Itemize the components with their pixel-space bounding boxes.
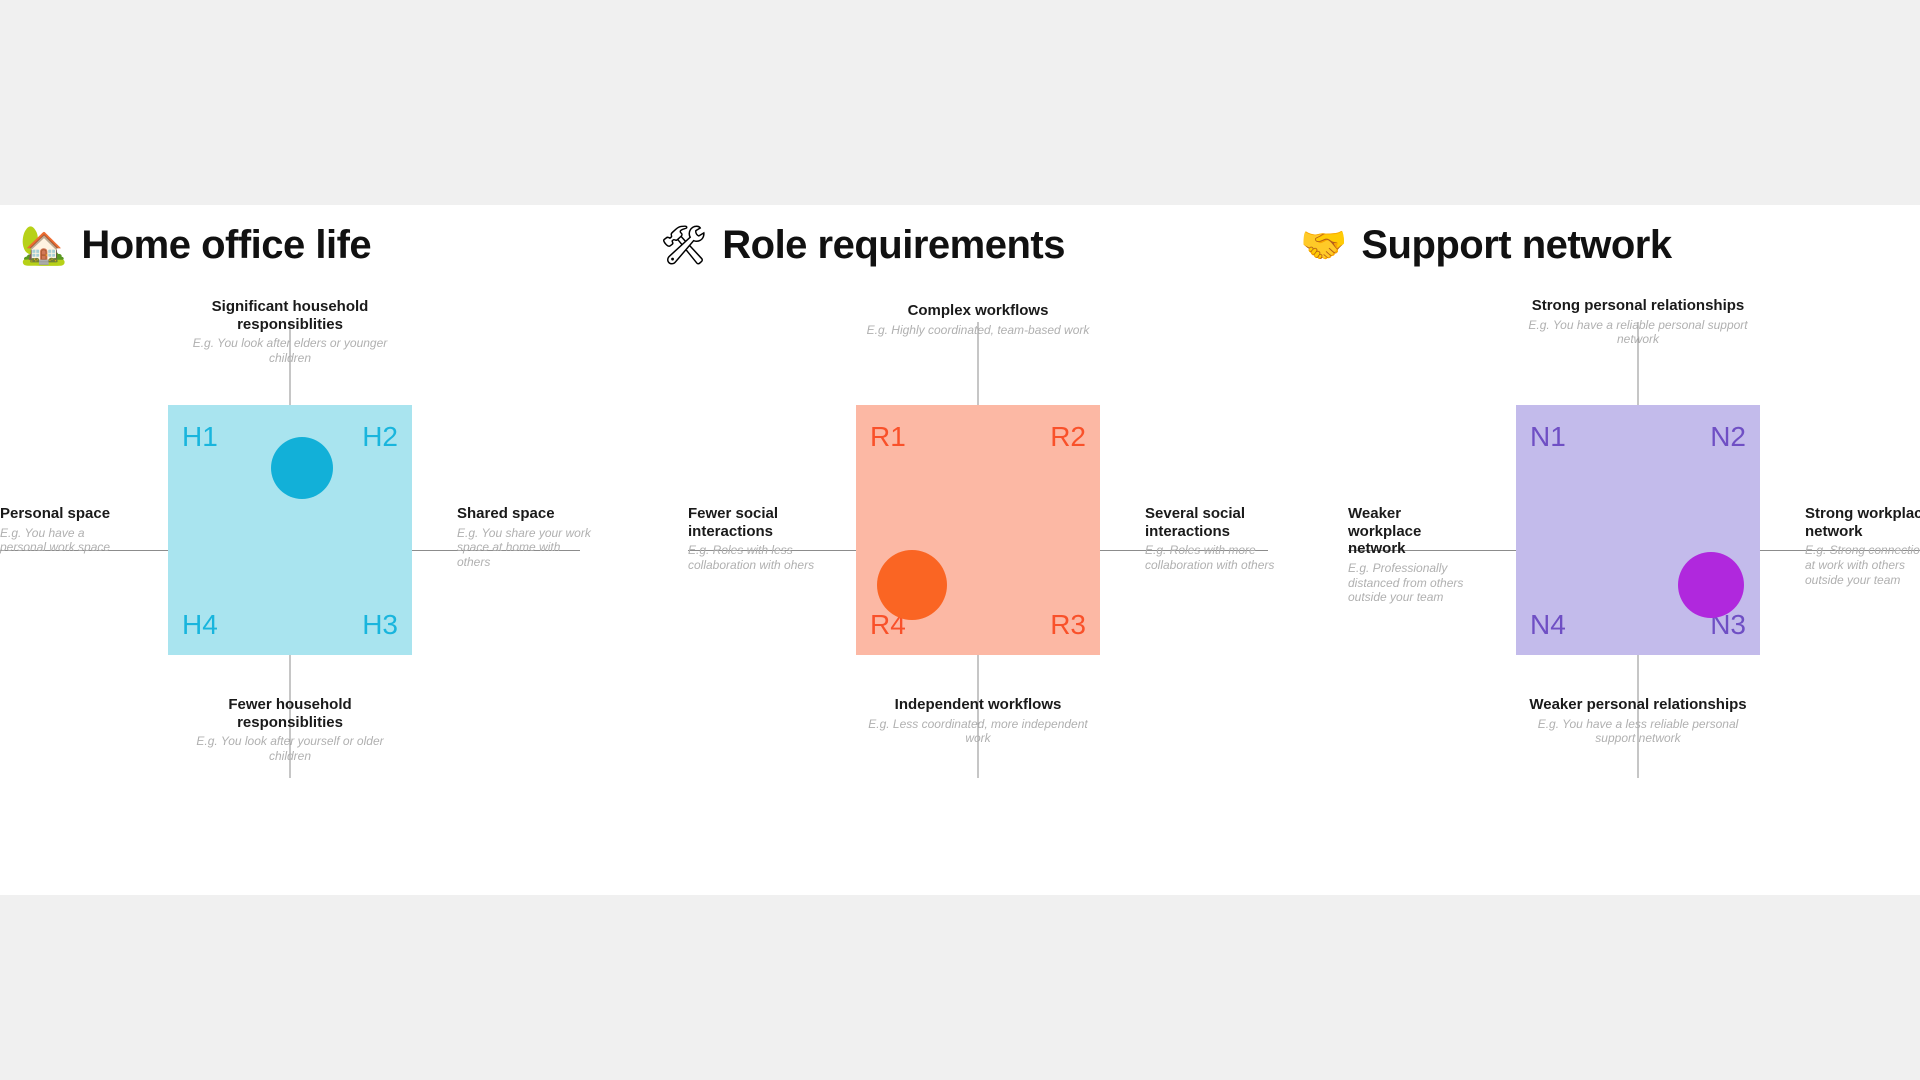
board-header: 🛠 Role requirements	[640, 225, 1280, 265]
axis-pole-bottom-title: Independent workflows	[863, 696, 1093, 714]
quadrant-label-bottom-right: H3	[362, 611, 398, 639]
quadrant-label-top-right: N2	[1710, 423, 1746, 451]
axis-pole-right-example: E.g. You share your work space at home w…	[457, 526, 592, 570]
quadrant-box[interactable]: N1 N2 N3 N4	[1516, 405, 1760, 655]
axis-pole-bottom: Independent workflows E.g. Less coordina…	[863, 696, 1093, 746]
axis-pole-bottom-example: E.g. You have a less reliable personal s…	[1523, 717, 1753, 746]
axis-pole-right-example: E.g. Strong connections at work with oth…	[1805, 543, 1920, 587]
axis-pole-left-example: E.g. Roles with less collaboration with …	[688, 543, 818, 572]
quadrant-label-top-left: R1	[870, 423, 906, 451]
axis-pole-left-example: E.g. You have a personal work space	[0, 526, 130, 555]
board-role-requirements: 🛠 Role requirements R1 R2 R3 R4 Complex …	[640, 205, 1280, 895]
quadrant-boards-row: 🏡 Home office life H1 H2 H3 H4 Significa…	[0, 205, 1920, 895]
axis-pole-left: Weaker workplace network E.g. Profession…	[1348, 505, 1478, 605]
quadrant-box[interactable]: R1 R2 R3 R4	[856, 405, 1100, 655]
quadrant-label-top-left: N1	[1530, 423, 1566, 451]
axis-pole-left-example: E.g. Professionally distanced from other…	[1348, 561, 1478, 605]
position-marker-dot[interactable]	[877, 550, 947, 620]
quadrant-label-bottom-right: R3	[1050, 611, 1086, 639]
quadrant-label-bottom-left: H4	[182, 611, 218, 639]
axis-pole-bottom-title: Fewer household responsiblities	[175, 696, 405, 731]
axis-pole-right-example: E.g. Roles with more collaboration with …	[1145, 543, 1280, 572]
axis-pole-bottom: Fewer household responsiblities E.g. You…	[175, 696, 405, 764]
board-header: 🏡 Home office life	[0, 225, 640, 265]
axis-pole-top-example: E.g. Highly coordinated, team-based work	[863, 323, 1093, 338]
board-support-network: 🤝 Support network N1 N2 N3 N4 Strong per…	[1280, 205, 1920, 895]
axis-pole-top: Complex workflows E.g. Highly coordinate…	[863, 302, 1093, 337]
axis-pole-right: Strong workplace network E.g. Strong con…	[1805, 505, 1920, 587]
quadrant-chart: R1 R2 R3 R4 Complex workflows E.g. Highl…	[658, 300, 1298, 820]
screenshot-canvas: 🏡 Home office life H1 H2 H3 H4 Significa…	[0, 0, 1920, 1080]
quadrant-label-bottom-left: N4	[1530, 611, 1566, 639]
quadrant-chart: N1 N2 N3 N4 Strong personal relationship…	[1318, 300, 1920, 820]
axis-pole-left-title: Fewer social interactions	[688, 505, 818, 540]
hammer-and-wrench-emoji: 🛠	[660, 226, 708, 264]
axis-pole-bottom: Weaker personal relationships E.g. You h…	[1523, 696, 1753, 746]
axis-pole-right-title: Strong workplace network	[1805, 505, 1920, 540]
axis-pole-top-title: Significant household responsiblities	[175, 298, 405, 333]
quadrant-label-top-right: H2	[362, 423, 398, 451]
axis-pole-left-title: Personal space	[0, 505, 130, 523]
quadrant-label-top-left: H1	[182, 423, 218, 451]
axis-pole-right-title: Several social interactions	[1145, 505, 1280, 540]
axis-pole-right-title: Shared space	[457, 505, 592, 523]
position-marker-dot[interactable]	[1678, 552, 1744, 618]
board-header: 🤝 Support network	[1280, 225, 1920, 265]
axis-pole-left: Personal space E.g. You have a personal …	[0, 505, 130, 555]
axis-pole-right: Shared space E.g. You share your work sp…	[457, 505, 592, 570]
axis-pole-left-title: Weaker workplace network	[1348, 505, 1478, 558]
axis-pole-top-title: Strong personal relationships	[1523, 297, 1753, 315]
axis-pole-top: Significant household responsiblities E.…	[175, 298, 405, 366]
axis-pole-right: Several social interactions E.g. Roles w…	[1145, 505, 1280, 573]
quadrant-box[interactable]: H1 H2 H3 H4	[168, 405, 412, 655]
position-marker-dot[interactable]	[271, 437, 333, 499]
axis-pole-top-example: E.g. You have a reliable personal suppor…	[1523, 318, 1753, 347]
axis-pole-bottom-title: Weaker personal relationships	[1523, 696, 1753, 714]
axis-pole-bottom-example: E.g. You look after yourself or older ch…	[175, 734, 405, 763]
axis-pole-left: Fewer social interactions E.g. Roles wit…	[688, 505, 818, 573]
handshake-emoji: 🤝	[1300, 226, 1347, 264]
board-title: Role requirements	[722, 225, 1065, 265]
house-with-garden-emoji: 🏡	[20, 226, 67, 264]
axis-pole-top-title: Complex workflows	[863, 302, 1093, 320]
board-title: Home office life	[81, 225, 371, 265]
quadrant-label-top-right: R2	[1050, 423, 1086, 451]
board-title: Support network	[1361, 225, 1671, 265]
axis-pole-top: Strong personal relationships E.g. You h…	[1523, 297, 1753, 347]
axis-pole-bottom-example: E.g. Less coordinated, more independent …	[863, 717, 1093, 746]
axis-pole-top-example: E.g. You look after elders or younger ch…	[175, 336, 405, 365]
quadrant-chart: H1 H2 H3 H4 Significant household respon…	[0, 300, 610, 820]
board-home-office-life: 🏡 Home office life H1 H2 H3 H4 Significa…	[0, 205, 640, 895]
